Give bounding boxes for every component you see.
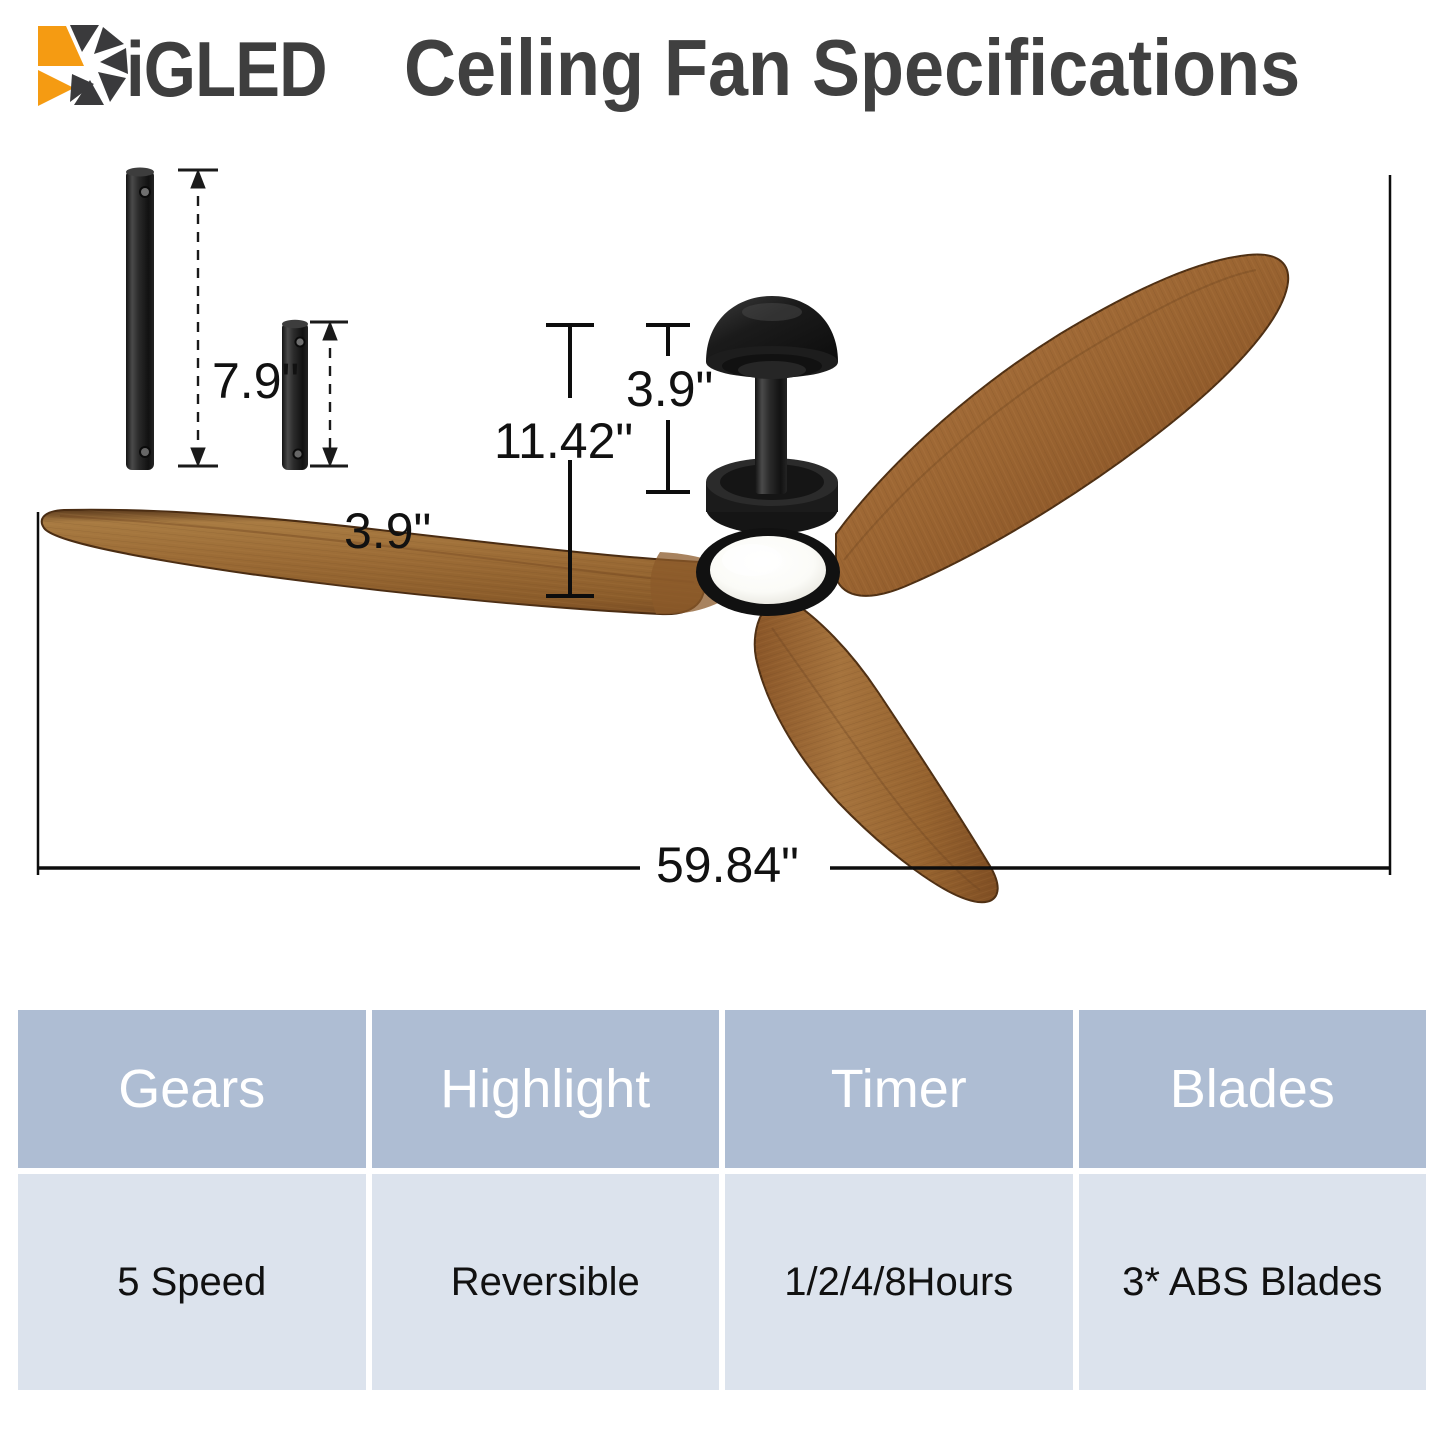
brand-name: iGLED xyxy=(126,24,327,115)
table-header-highlight: Highlight xyxy=(372,1010,720,1168)
dimension-label-downrod-long: 7.9" xyxy=(212,352,299,410)
specifications-table: Gears Highlight Timer Blades 5 Speed Rev… xyxy=(18,1010,1426,1390)
table-cell-timer: 1/2/4/8Hours xyxy=(725,1174,1073,1390)
table-cell-blades: 3* ABS Blades xyxy=(1079,1174,1427,1390)
product-diagram: 7.9" 3.9" 11.42" 3.9" 59.84" xyxy=(0,130,1445,970)
led-light-fixture xyxy=(696,528,840,616)
table-cell-gears: 5 Speed xyxy=(18,1174,366,1390)
brand-name-text: iGLED xyxy=(126,25,327,113)
downrod-long-part xyxy=(126,168,154,471)
ceiling-canopy xyxy=(706,296,838,379)
dimension-downrod-long xyxy=(178,170,218,466)
page-header: iGLED Ceiling Fan Specifications xyxy=(0,0,1445,130)
table-header-timer: Timer xyxy=(725,1010,1073,1168)
table-row: 5 Speed Reversible 1/2/4/8Hours 3* ABS B… xyxy=(18,1174,1426,1390)
dimension-downrod-short xyxy=(310,322,348,466)
dimension-label-fan-height: 11.42" xyxy=(494,412,633,470)
table-cell-highlight: Reversible xyxy=(372,1174,720,1390)
aperture-logo-icon xyxy=(36,22,132,108)
table-header-blades: Blades xyxy=(1079,1010,1427,1168)
page-title: Ceiling Fan Specifications xyxy=(404,22,1300,114)
fan-blade-top-right xyxy=(836,254,1288,595)
dimension-label-installed-downrod: 3.9" xyxy=(626,360,713,418)
dimension-label-downrod-short: 3.9" xyxy=(344,502,431,560)
installed-downrod xyxy=(755,368,787,494)
dimension-label-blade-span: 59.84" xyxy=(656,836,799,894)
table-header-row: Gears Highlight Timer Blades xyxy=(18,1010,1426,1168)
table-header-gears: Gears xyxy=(18,1010,366,1168)
